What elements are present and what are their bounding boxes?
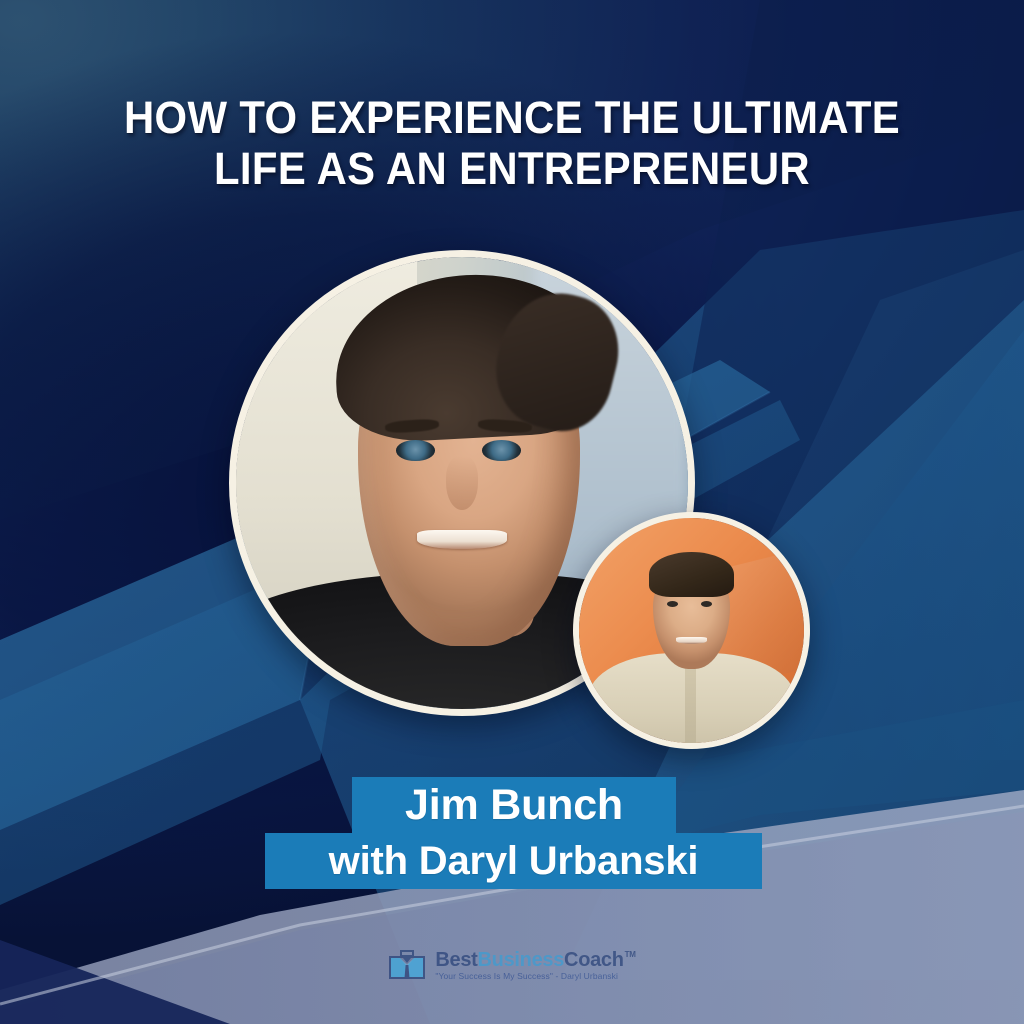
host-avatar-secondary bbox=[573, 512, 810, 749]
guest-name-banner: Jim Bunch bbox=[352, 777, 676, 833]
brand-word-best: Best bbox=[435, 950, 477, 970]
guest-name-text: Jim Bunch bbox=[405, 781, 623, 830]
trademark-symbol: TM bbox=[625, 951, 636, 959]
page-title: HOW TO EXPERIENCE THE ULTIMATE LIFE AS A… bbox=[36, 92, 988, 195]
brand-tagline: "Your Success Is My Success" - Daryl Urb… bbox=[435, 972, 635, 981]
brand-word-business: Business bbox=[478, 950, 565, 970]
podcast-cover-card: HOW TO EXPERIENCE THE ULTIMATE LIFE AS A… bbox=[0, 0, 1024, 1024]
brand-wordmark: BestBusinessCoachTM bbox=[435, 950, 635, 970]
briefcase-icon bbox=[388, 950, 426, 980]
host-name-text: with Daryl Urbanski bbox=[329, 839, 699, 884]
host-name-banner: with Daryl Urbanski bbox=[265, 833, 762, 889]
brand-logo-text: BestBusinessCoachTM "Your Success Is My … bbox=[435, 950, 635, 981]
host-photo bbox=[579, 518, 804, 743]
brand-logo: BestBusinessCoachTM "Your Success Is My … bbox=[0, 950, 1024, 981]
brand-word-coach: Coach bbox=[564, 950, 624, 970]
